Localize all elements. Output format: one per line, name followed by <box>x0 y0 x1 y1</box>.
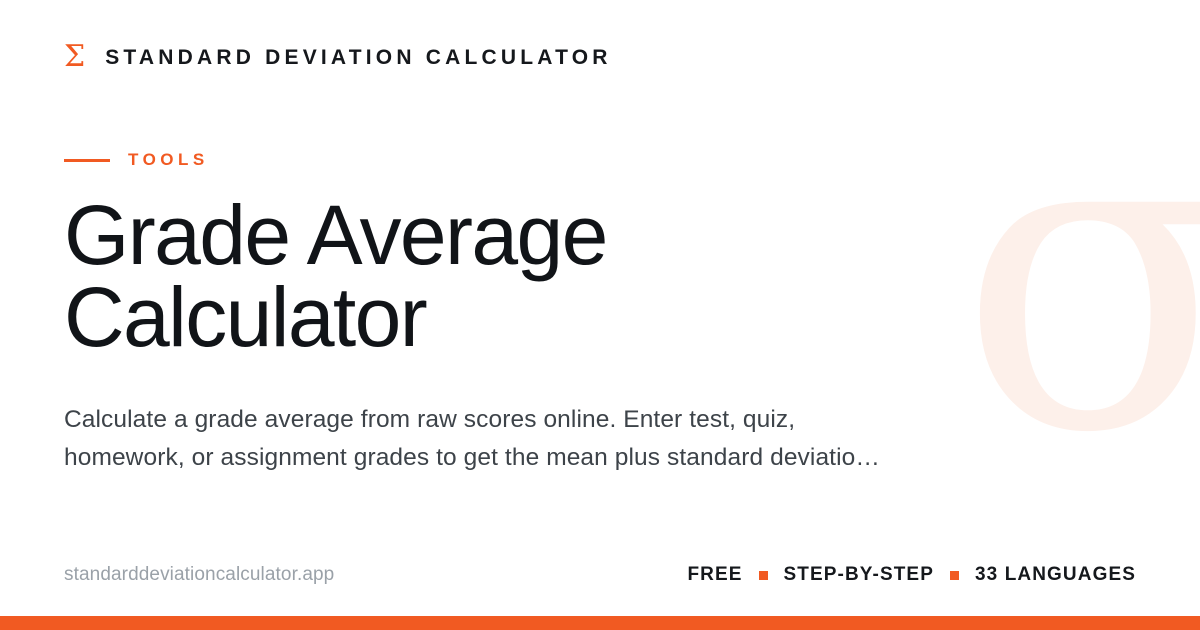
feature-badges: FREE STEP-BY-STEP 33 LANGUAGES <box>687 564 1136 586</box>
page-title-line-2: Calculator <box>64 276 824 358</box>
eyebrow-rule <box>64 159 110 162</box>
brand-name: STANDARD DEVIATION CALCULATOR <box>105 46 611 70</box>
page-title: Grade Average Calculator <box>64 194 824 359</box>
badge-step-by-step: STEP-BY-STEP <box>784 564 934 586</box>
page-description-line-2: homework, or assignment grades to get th… <box>64 439 1024 478</box>
page-description-line-1: Calculate a grade average from raw score… <box>64 401 1024 440</box>
page-title-line-1: Grade Average <box>64 194 824 276</box>
category-eyebrow: TOOLS <box>64 150 1136 170</box>
accent-bottom-bar <box>0 616 1200 630</box>
card-footer: standarddeviationcalculator.app FREE STE… <box>64 564 1136 586</box>
social-preview-card: σ Σ STANDARD DEVIATION CALCULATOR TOOLS … <box>0 0 1200 630</box>
site-domain: standarddeviationcalculator.app <box>64 564 334 586</box>
badge-free: FREE <box>687 564 742 586</box>
badge-separator-icon <box>759 571 768 580</box>
brand-header: Σ STANDARD DEVIATION CALCULATOR <box>64 36 1136 80</box>
category-label: TOOLS <box>128 150 209 170</box>
page-description: Calculate a grade average from raw score… <box>64 401 1024 478</box>
badge-separator-icon <box>950 571 959 580</box>
card-content: Σ STANDARD DEVIATION CALCULATOR TOOLS Gr… <box>0 0 1200 630</box>
sigma-icon: Σ <box>64 42 85 72</box>
badge-languages: 33 LANGUAGES <box>975 564 1136 586</box>
